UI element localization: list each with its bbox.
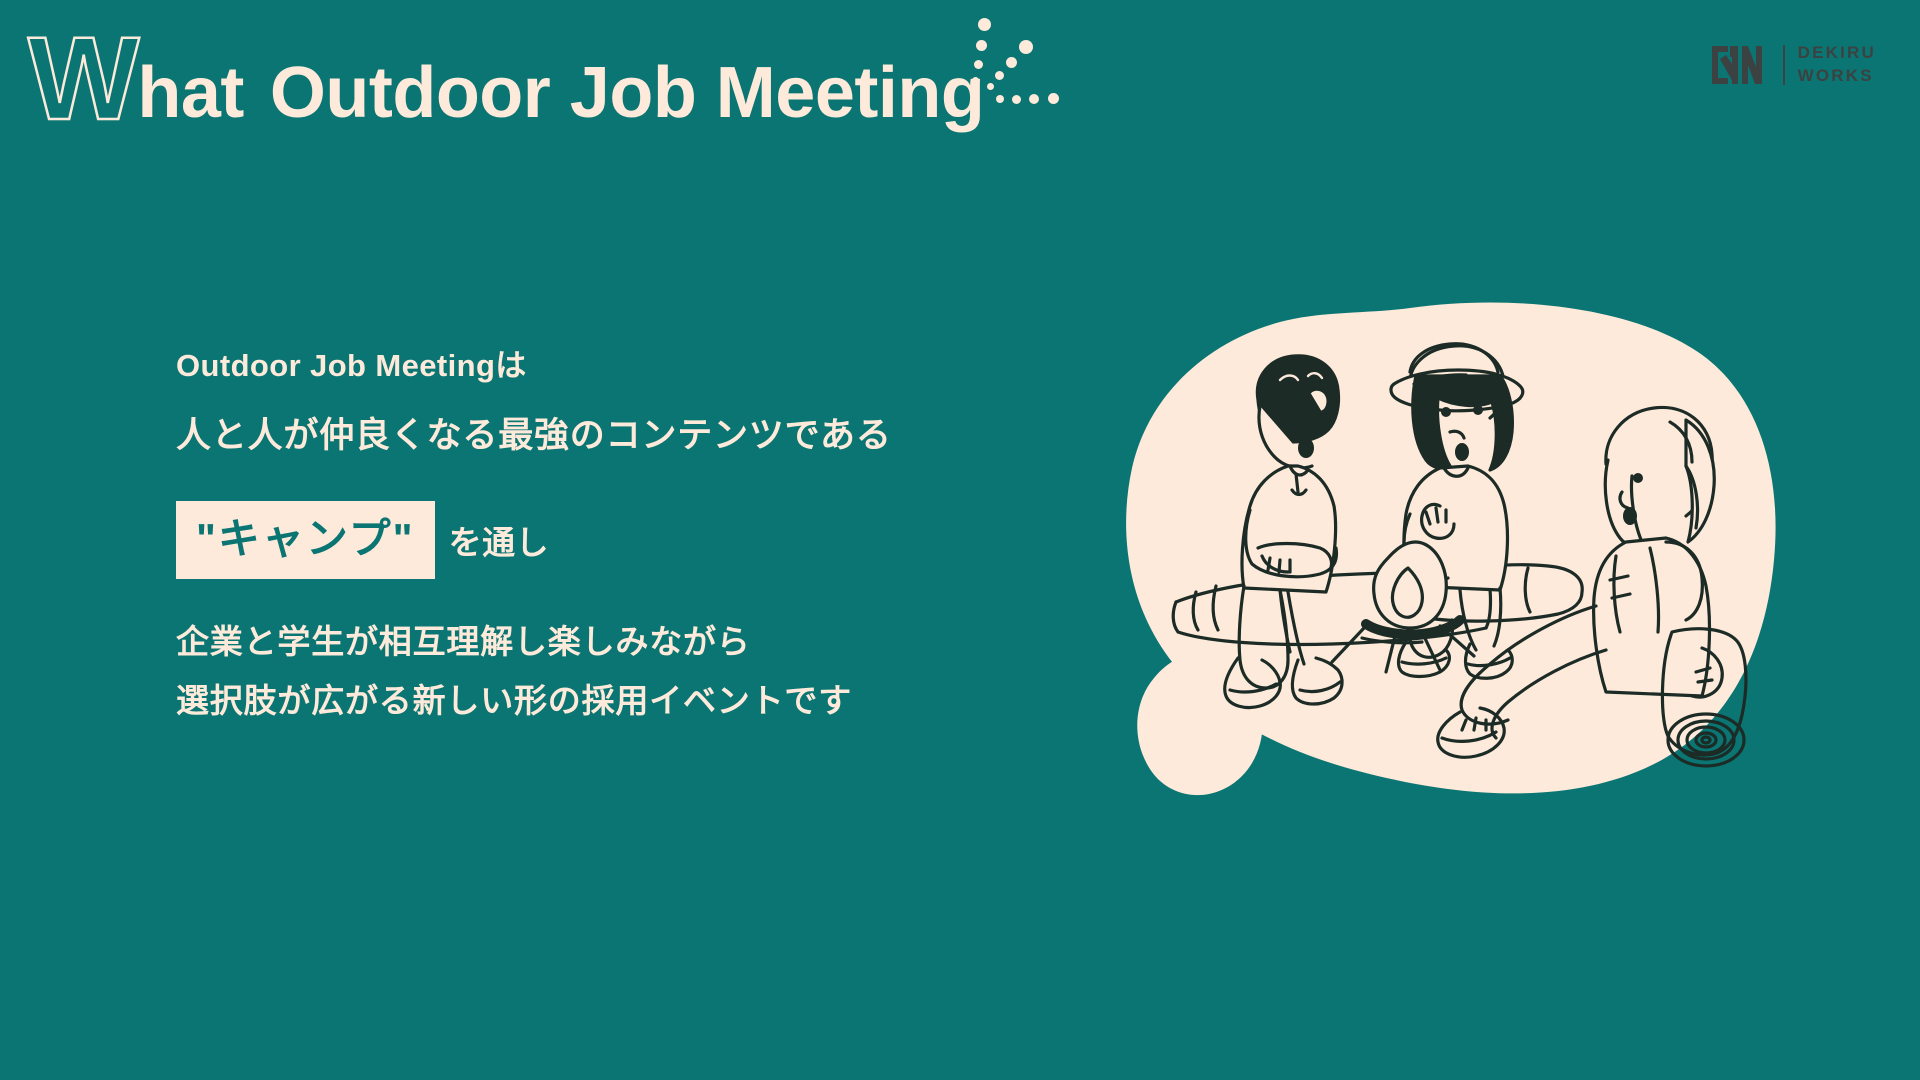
copy-line-4: 選択肢が広がる新しい形の採用イベントです: [176, 684, 892, 717]
copy-line-highlight-row: "キャンプ" を通し: [176, 501, 892, 579]
brand-logo[interactable]: DEKIRU WORKS: [1708, 42, 1876, 88]
title-main-text: Outdoor Job Meeting: [270, 57, 984, 129]
campfire-illustration: [1110, 280, 1800, 810]
logo-line-1: DEKIRU: [1798, 42, 1876, 65]
title-initial-letter: W: [28, 20, 137, 138]
logo-line-2: WORKS: [1798, 65, 1876, 88]
copy-line-1: Outdoor Job Meetingは: [176, 350, 892, 381]
highlight-tail-text: を通し: [449, 516, 550, 564]
slide-root: WhatOutdoor Job Meeting DEKIRU WORKS Ou: [0, 0, 1920, 1080]
body-copy: Outdoor Job Meetingは 人と人が仲良くなる最強のコンテンツであ…: [176, 350, 892, 717]
page-title: WhatOutdoor Job Meeting: [28, 18, 984, 136]
highlight-keyword-box: "キャンプ": [176, 501, 435, 579]
copy-line-3: 企業と学生が相互理解し楽しみながら: [176, 625, 892, 658]
copy-line-2: 人と人が仲良くなる最強のコンテンツである: [176, 418, 892, 453]
campfire-illustration-svg: [1110, 280, 1800, 810]
title-initial-rest: hat: [137, 57, 244, 129]
dekiru-works-mark-icon: [1708, 43, 1770, 87]
logo-wordmark: DEKIRU WORKS: [1798, 42, 1876, 88]
logo-divider: [1783, 45, 1785, 85]
